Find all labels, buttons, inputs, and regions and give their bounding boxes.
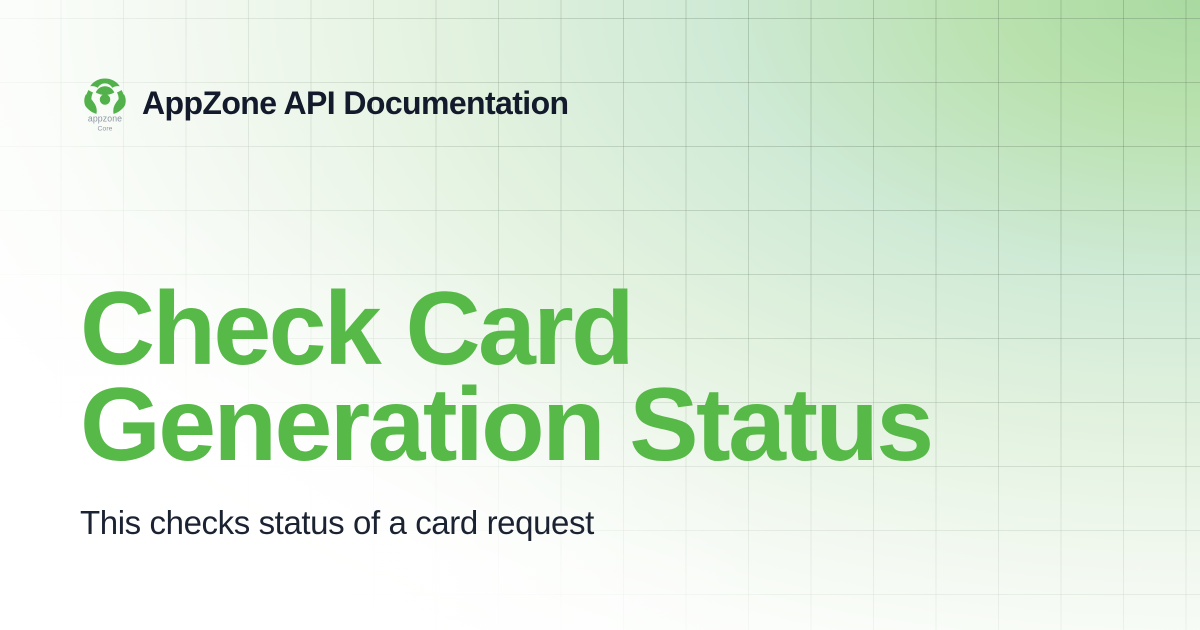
logo-wordmark-secondary: Core — [97, 126, 112, 133]
card-content: appzone Core AppZone API Documentation C… — [0, 0, 1200, 630]
hero-headline-line-1: Check Card — [80, 282, 1060, 378]
logo-wordmark-primary: appzone — [88, 114, 122, 124]
hero-subheadline: This checks status of a card request — [80, 502, 594, 543]
og-card: appzone Core AppZone API Documentation C… — [0, 0, 1200, 630]
brand-header: appzone Core AppZone API Documentation — [80, 74, 568, 136]
hero-headline-line-2: Generation Status — [80, 378, 1060, 474]
appzone-core-logo-icon: appzone Core — [80, 76, 130, 134]
page-title: AppZone API Documentation — [142, 87, 568, 119]
hero-headline: Check Card Generation Status — [80, 282, 1060, 473]
